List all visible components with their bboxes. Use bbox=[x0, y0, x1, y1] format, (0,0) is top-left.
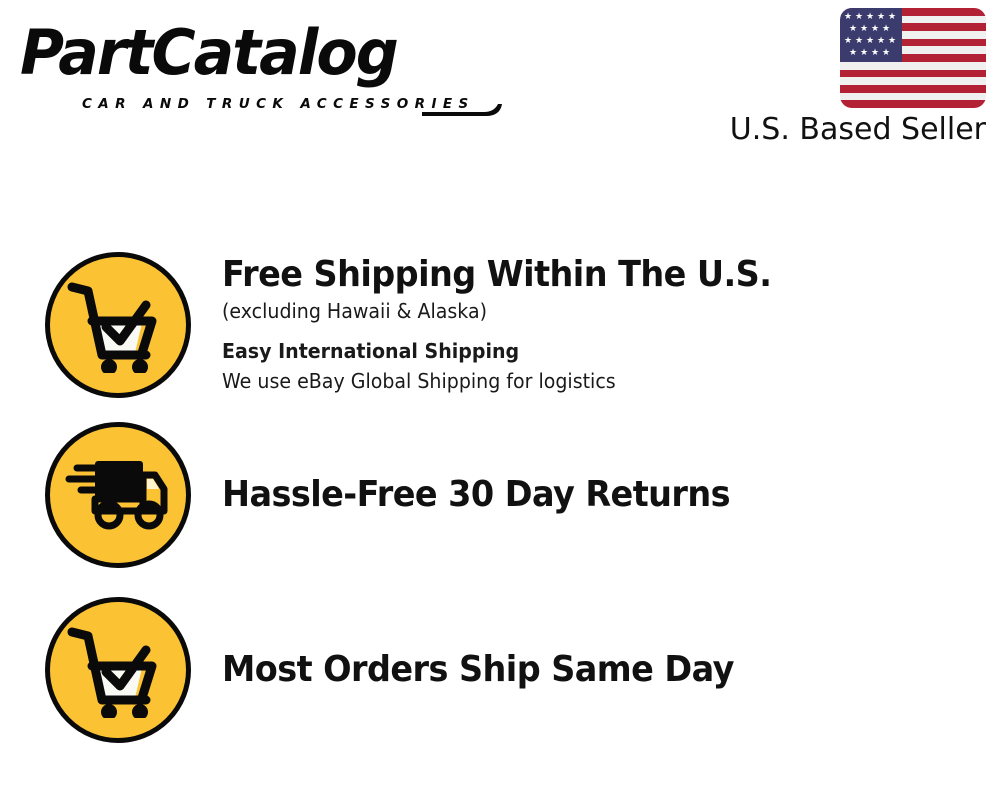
feature-headline: Most Orders Ship Same Day bbox=[222, 649, 946, 691]
feature-text-block: Free Shipping Within The U.S. (excluding… bbox=[222, 254, 1000, 396]
us-based-seller-badge: ★ ★ ★ ★ ★ ★ ★ ★ ★ ★ ★ ★ ★ ★ ★ ★ ★ ★ U.S.… bbox=[706, 8, 986, 147]
brand-wordmark: PartCatalog bbox=[20, 22, 397, 84]
feature-row: Free Shipping Within The U.S. (excluding… bbox=[0, 250, 1000, 400]
brand-logo[interactable]: PartCatalog CAR AND TRUCK ACCESSORIES bbox=[20, 22, 490, 122]
feature-headline: Hassle-Free 30 Day Returns bbox=[222, 474, 946, 516]
feature-headline: Free Shipping Within The U.S. bbox=[222, 254, 946, 296]
shopping-cart-check-icon bbox=[45, 597, 191, 743]
us-flag-icon: ★ ★ ★ ★ ★ ★ ★ ★ ★ ★ ★ ★ ★ ★ ★ ★ ★ ★ bbox=[840, 8, 986, 108]
logo-swash-icon bbox=[420, 102, 504, 120]
feature-subnote: (excluding Hawaii & Alaska) bbox=[222, 296, 961, 326]
brand-tagline: CAR AND TRUCK ACCESSORIES bbox=[82, 96, 475, 112]
feature-text-block: Hassle-Free 30 Day Returns bbox=[222, 474, 1000, 516]
feature-row: Most Orders Ship Same Day bbox=[0, 595, 1000, 745]
feature-text-block: Most Orders Ship Same Day bbox=[222, 649, 1000, 691]
feature-sub-bold: Easy International Shipping bbox=[222, 336, 961, 366]
feature-row: Hassle-Free 30 Day Returns bbox=[0, 420, 1000, 570]
delivery-truck-icon bbox=[45, 422, 191, 568]
page-header: PartCatalog CAR AND TRUCK ACCESSORIES ★ … bbox=[0, 0, 1000, 170]
feature-sub-detail: We use eBay Global Shipping for logistic… bbox=[222, 366, 961, 396]
shopping-cart-check-icon bbox=[45, 252, 191, 398]
seller-badge-label: U.S. Based Seller bbox=[706, 112, 986, 147]
